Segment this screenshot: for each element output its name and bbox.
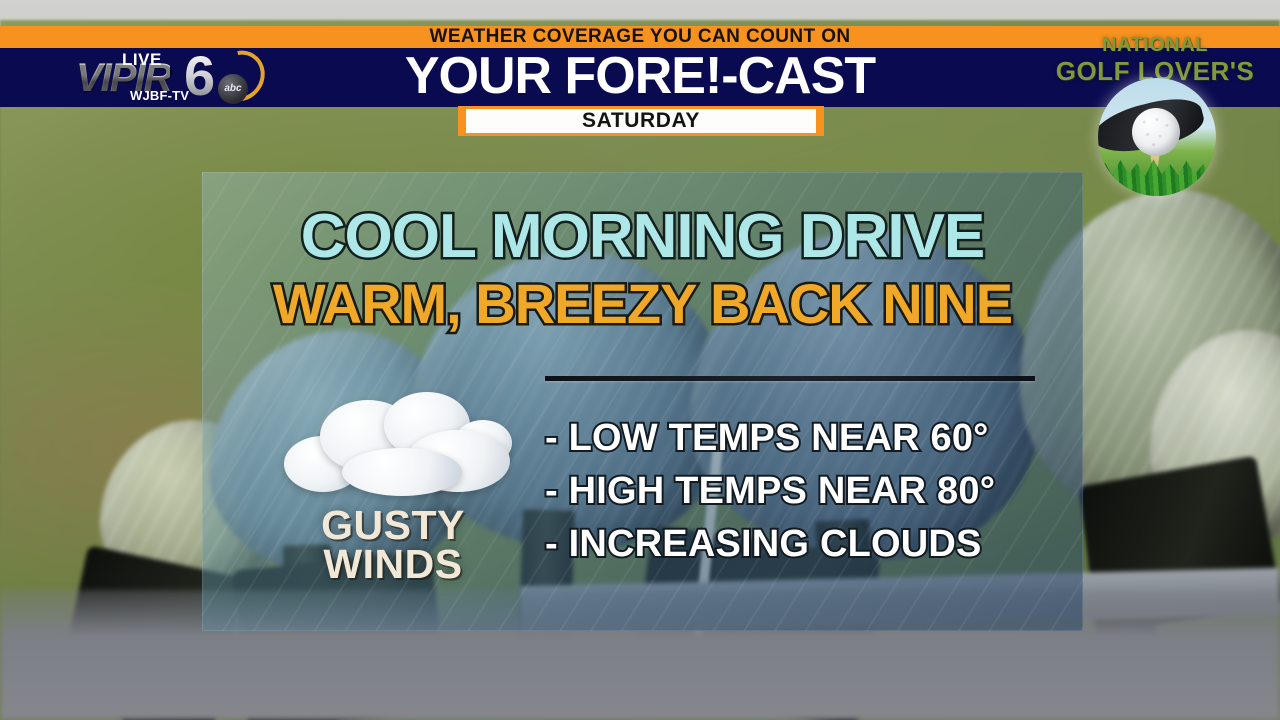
day-tab-label: SATURDAY — [466, 109, 816, 133]
golf-ball-icon — [1132, 108, 1180, 156]
abc-network-icon: abc — [218, 74, 248, 104]
wind-callout: GUSTY WINDS — [268, 506, 518, 584]
wind-callout-line-2: WINDS — [268, 545, 518, 584]
forecast-headline-secondary: WARM, BREEZY BACK NINE — [202, 276, 1083, 332]
list-item: - HIGH TEMPS NEAR 80° — [545, 465, 995, 518]
call-sign-label: WJBF-TV — [130, 88, 189, 103]
national-golf-lovers-day-badge: NATIONAL GOLF LOVER'S DAY — [1050, 32, 1260, 207]
golf-ball-on-tee-icon — [1098, 78, 1216, 196]
live-badge: LIVE — [122, 50, 162, 70]
day-tab[interactable]: SATURDAY — [458, 106, 824, 136]
list-item: - LOW TEMPS NEAR 60° — [545, 412, 995, 465]
forecast-headline-primary: COOL MORNING DRIVE — [202, 206, 1083, 268]
list-item: - INCREASING CLOUDS — [545, 518, 995, 571]
forecast-bullet-list: - LOW TEMPS NEAR 60° - HIGH TEMPS NEAR 8… — [545, 412, 995, 571]
cloudy-weather-icon — [278, 390, 518, 500]
wind-callout-line-1: GUSTY — [268, 506, 518, 545]
cloud-puff — [342, 448, 462, 496]
badge-line-1: NATIONAL — [1050, 34, 1260, 57]
section-divider — [545, 376, 1035, 381]
station-logo[interactable]: VIPIR LIVE 6 abc WJBF-TV — [66, 44, 256, 106]
